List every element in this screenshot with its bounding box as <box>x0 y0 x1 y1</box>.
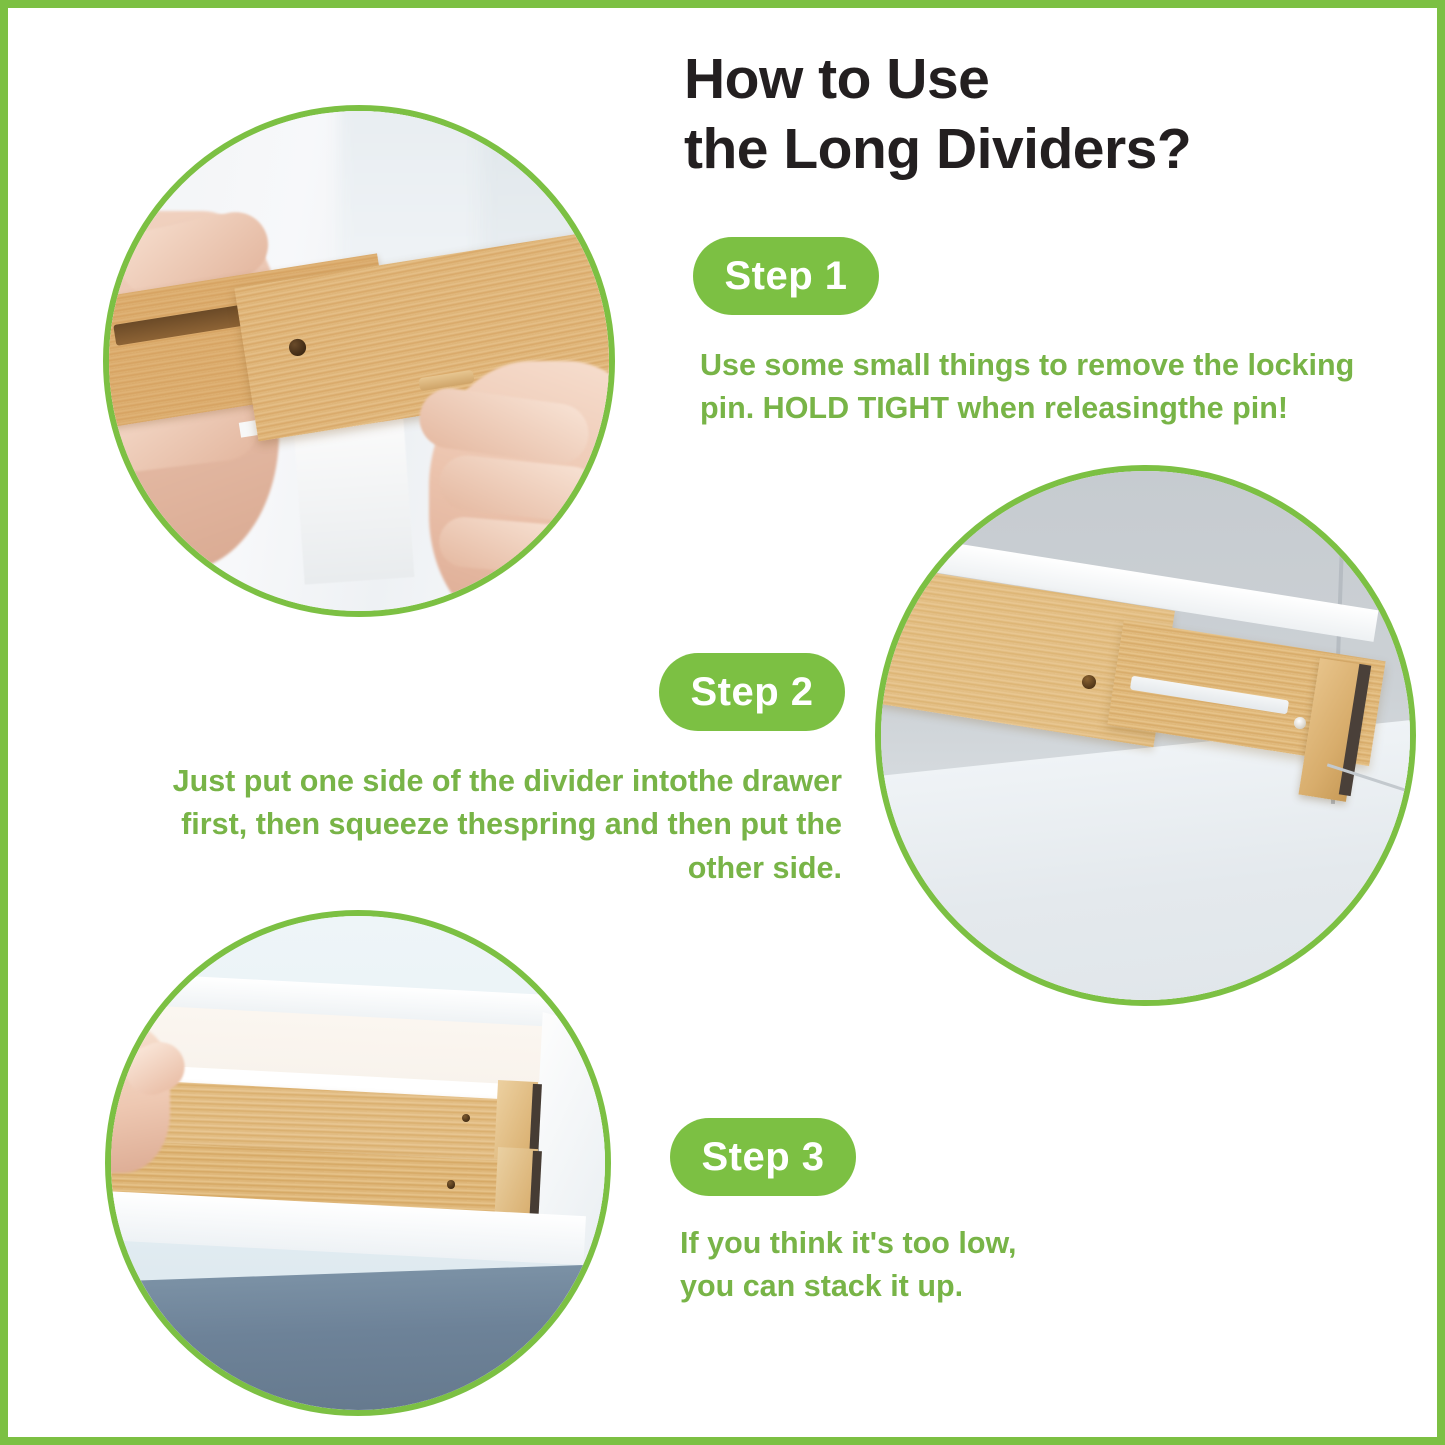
white-box <box>294 417 415 584</box>
step-2-badge: Step 2 <box>659 653 845 731</box>
step-1-photo-content <box>109 111 609 611</box>
lower-divider-pin-hole <box>447 1180 455 1188</box>
step-3-text-line-2: you can stack it up. <box>680 1265 1280 1308</box>
step-1-photo <box>103 105 615 617</box>
page-title-line-2: the Long Dividers? <box>684 115 1384 185</box>
step-2-text: Just put one side of the divider intothe… <box>130 760 842 890</box>
upper-divider-pin-hole <box>462 1114 470 1122</box>
page-title-line-1: How to Use <box>684 45 1384 115</box>
secondary-pin-hole <box>1293 716 1306 729</box>
step-1-badge: Step 1 <box>693 237 879 315</box>
step-1-badge-label: Step 1 <box>724 254 847 299</box>
step-2-photo-content <box>881 471 1410 1000</box>
step-1-text: Use some small things to remove the lock… <box>700 344 1412 431</box>
step-2-badge-label: Step 2 <box>690 670 813 715</box>
step-3-badge: Step 3 <box>670 1118 856 1196</box>
step-3-text: If you think it's too low, you can stack… <box>680 1222 1280 1309</box>
step-3-photo-content <box>111 916 605 1410</box>
step-2-photo <box>875 465 1416 1006</box>
step-3-photo <box>105 910 611 1416</box>
infographic-page: How to Use the Long Dividers? Step 1 U <box>0 0 1445 1445</box>
step-3-text-line-1: If you think it's too low, <box>680 1222 1280 1265</box>
cabinet-front-panel <box>105 1261 611 1416</box>
step-3-badge-label: Step 3 <box>701 1135 824 1180</box>
page-title: How to Use the Long Dividers? <box>684 45 1384 184</box>
